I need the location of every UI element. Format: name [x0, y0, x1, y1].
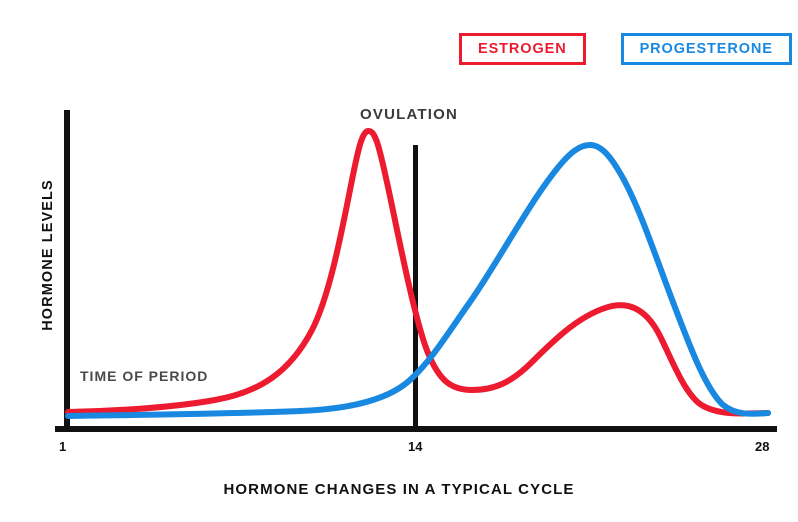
x-axis-title: HORMONE CHANGES IN A TYPICAL CYCLE: [0, 481, 798, 498]
y-axis-line: [64, 110, 70, 432]
x-tick-label-14: 14: [408, 440, 422, 453]
ovulation-label: OVULATION: [360, 106, 458, 123]
y-axis-title: HORMONE LEVELS: [40, 160, 56, 350]
chart-plot-area: [0, 0, 798, 522]
chart-page: ESTROGEN PROGESTERONE HORMONE LEVELS HOR…: [0, 0, 798, 522]
ovulation-marker-line: [413, 145, 418, 430]
time-of-period-label: TIME OF PERIOD: [80, 368, 208, 384]
x-tick-label-1: 1: [59, 440, 66, 453]
x-tick-label-28: 28: [755, 440, 769, 453]
